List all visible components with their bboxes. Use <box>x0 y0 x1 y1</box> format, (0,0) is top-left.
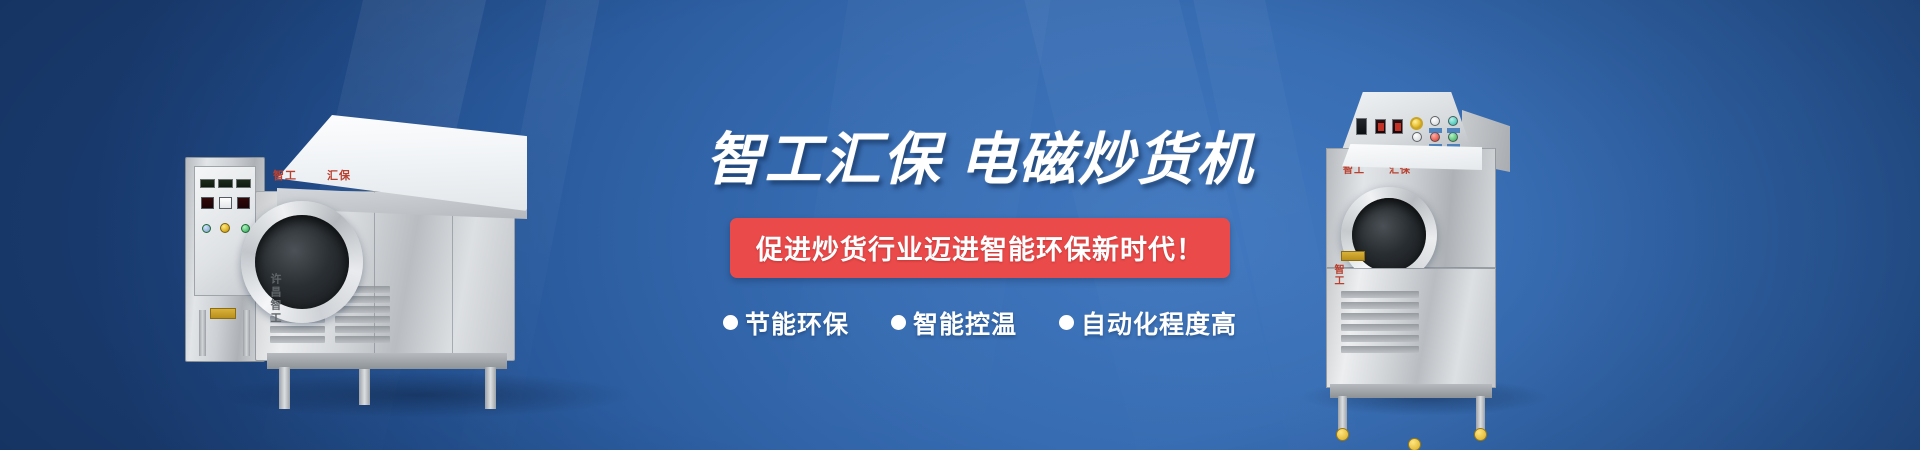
digital-readout <box>1375 119 1386 134</box>
button-label-tag <box>1447 128 1460 133</box>
hopper-top-cover <box>1342 144 1482 170</box>
ventilation-grille <box>1341 291 1419 361</box>
banner-tagline-badge: 促进炒货行业迈进智能环保新时代！ <box>730 218 1230 278</box>
bullet-dot-icon <box>891 315 906 330</box>
cabinet-legs <box>195 310 255 358</box>
caster-wheel <box>1474 428 1487 441</box>
banner-badge-wrapper: 促进炒货行业迈进智能环保新时代！ <box>690 218 1270 278</box>
drum-ring <box>241 201 363 323</box>
banner-headline: 智工汇保 电磁炒货机 <box>690 128 1270 194</box>
side-text-left: 许昌智工 <box>267 273 283 325</box>
nameplate <box>1341 251 1365 261</box>
door-seam <box>452 192 453 360</box>
push-button-red[interactable] <box>1430 132 1440 142</box>
digital-readout <box>219 197 232 209</box>
cart-frame <box>1330 384 1492 398</box>
product-image-left-roaster: 智工 汇保 许昌智工 <box>185 105 605 405</box>
push-button-teal[interactable] <box>1448 116 1458 126</box>
digital-readout <box>1392 119 1403 134</box>
top-control-panel <box>1342 92 1472 150</box>
button-label-tag <box>1429 128 1442 133</box>
machine-foot <box>485 367 496 409</box>
brand-mark-left-1: 智工 <box>273 167 297 183</box>
machine-base-rail <box>267 353 507 369</box>
cart-post <box>1338 396 1347 430</box>
banner-copy-block: 智工汇保 电磁炒货机 促进炒货行业迈进智能环保新时代！ 节能环保 智能控温 自动… <box>690 128 1270 341</box>
vent-slot <box>1341 313 1419 320</box>
digital-readout <box>201 197 214 209</box>
cart-post <box>1476 396 1485 430</box>
vent-slot <box>1341 335 1419 342</box>
digital-readout <box>237 197 250 209</box>
feature-label-2: 智能控温 <box>913 305 1017 341</box>
display-module <box>1356 118 1367 135</box>
led-display <box>236 179 251 188</box>
feature-label-3: 自动化程度高 <box>1081 305 1237 341</box>
feature-item-1: 节能环保 <box>723 305 849 341</box>
cabinet-leg <box>243 310 250 356</box>
selector-knob[interactable] <box>220 223 230 233</box>
machine-foot <box>279 367 290 409</box>
machine-foot <box>359 369 370 405</box>
vent-slot <box>1341 346 1419 353</box>
vent-slot <box>270 326 325 333</box>
push-button-green[interactable] <box>1448 132 1458 142</box>
caster-wheel <box>1336 428 1349 441</box>
roaster-lower-body <box>1326 268 1496 388</box>
product-image-right-roaster: 智工 汇保 智工 <box>1290 92 1560 402</box>
caster-wheel <box>1408 438 1421 450</box>
push-button-white[interactable] <box>1412 132 1422 142</box>
led-display <box>218 179 233 188</box>
selector-knob[interactable] <box>1410 117 1423 130</box>
led-display <box>200 179 215 188</box>
brand-mark-left-2: 汇保 <box>327 167 351 183</box>
feature-item-3: 自动化程度高 <box>1059 305 1237 341</box>
bullet-dot-icon <box>723 315 738 330</box>
feature-list: 节能环保 智能控温 自动化程度高 <box>690 305 1270 341</box>
feature-label-1: 节能环保 <box>745 305 849 341</box>
vent-slot <box>335 306 390 313</box>
vent-slot <box>335 326 390 333</box>
cabinet-leg <box>199 310 206 356</box>
bullet-dot-icon <box>1059 315 1074 330</box>
vent-slot <box>1341 324 1419 331</box>
push-button-white[interactable] <box>1430 116 1440 126</box>
vent-slot <box>335 336 390 343</box>
vent-slot <box>335 316 390 323</box>
vent-slot <box>1341 291 1419 298</box>
vent-slot <box>1341 302 1419 309</box>
promo-banner: 智工 汇保 许昌智工 智工 <box>0 0 1920 450</box>
indicator-lamp <box>202 224 211 233</box>
vent-slot <box>270 336 325 343</box>
side-text-right: 智工 <box>1330 264 1345 286</box>
feature-item-2: 智能控温 <box>891 305 1017 341</box>
